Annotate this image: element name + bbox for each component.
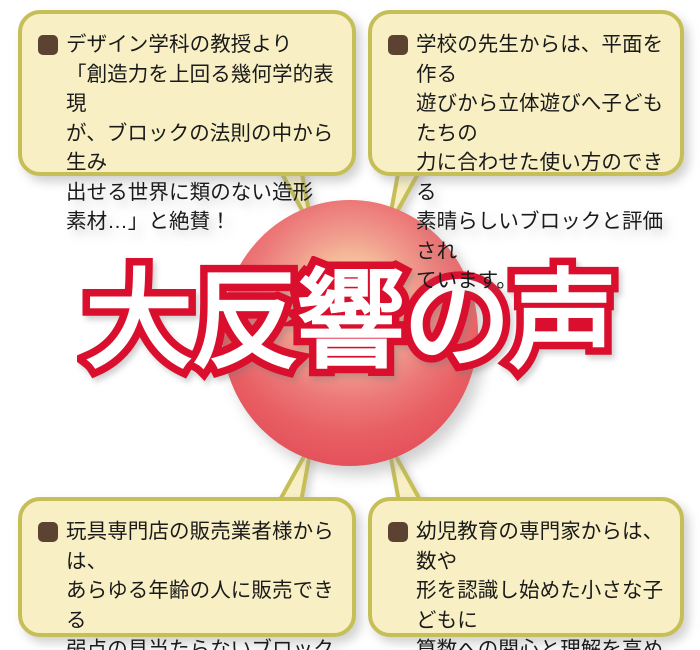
testimonial-text: 玩具専門店の販売業者様からは、 あらゆる年齢の人に販売できる 弱点の見当たらない… (66, 517, 338, 650)
infographic-canvas: 大反響の声 デザイン学科の教授より 「創造力を上回る幾何学的表現 が、ブロックの… (0, 0, 700, 650)
testimonial-text: 幼児教育の専門家からは、数や 形を認識し始めた小さな子どもに 算数への関心と理解… (416, 517, 666, 650)
square-bullet-icon (38, 35, 58, 55)
testimonial-text: 学校の先生からは、平面を作る 遊びから立体遊びへ子どもたちの 力に合わせた使い方… (416, 30, 666, 296)
square-bullet-icon (388, 522, 408, 542)
testimonial-bubble-bottom-left: 玩具専門店の販売業者様からは、 あらゆる年齢の人に販売できる 弱点の見当たらない… (18, 497, 356, 637)
testimonial-bubble-top-right: 学校の先生からは、平面を作る 遊びから立体遊びへ子どもたちの 力に合わせた使い方… (368, 10, 684, 176)
testimonial-bubble-bottom-right: 幼児教育の専門家からは、数や 形を認識し始めた小さな子どもに 算数への関心と理解… (368, 497, 684, 637)
testimonial-text: デザイン学科の教授より 「創造力を上回る幾何学的表現 が、ブロックの法則の中から… (66, 30, 338, 237)
square-bullet-icon (388, 35, 408, 55)
square-bullet-icon (38, 522, 58, 542)
testimonial-bubble-top-left: デザイン学科の教授より 「創造力を上回る幾何学的表現 が、ブロックの法則の中から… (18, 10, 356, 176)
